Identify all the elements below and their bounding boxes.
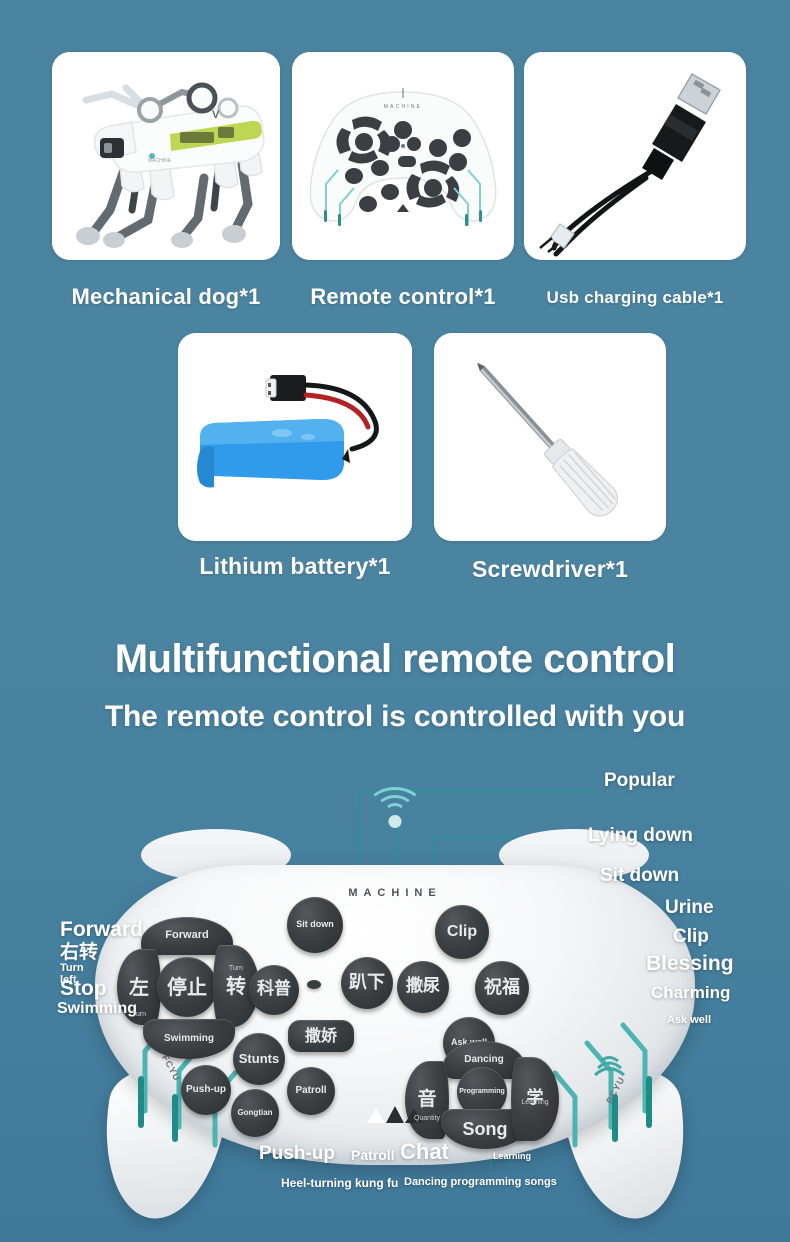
product-card-lithium-battery <box>178 333 412 541</box>
annotation-patroll: Patroll <box>351 1148 395 1162</box>
remote-control-diagram: MACHINE <box>95 845 695 1175</box>
annotation-dancing-programming-songs: Dancing programming songs <box>404 1177 557 1188</box>
annotation-blessing: Blessing <box>646 953 734 974</box>
antenna-icon <box>363 787 427 835</box>
product-card-mechanical-dog: V MACHINE <box>52 52 280 260</box>
annotation-charming: Charming <box>651 984 730 1001</box>
annotation-stop: Stop <box>60 978 107 999</box>
annotation-heel-turning-kung-fu: Heel-turning kung fu <box>281 1177 398 1189</box>
screwdriver-photo <box>434 333 666 541</box>
button-volume-sublabel: Quantity <box>405 1115 449 1122</box>
button-learning-sublabel: Learning <box>511 1099 559 1106</box>
annotation-forward: Forward <box>60 919 143 940</box>
card-label-screwdriver: Screwdriver*1 <box>434 556 666 583</box>
product-card-screwdriver <box>434 333 666 541</box>
button-blessing[interactable]: 祝福 <box>475 961 529 1015</box>
annotation-chat: Chat <box>400 1141 449 1163</box>
usb-cable-photo <box>524 52 746 260</box>
page-title: Multifunctional remote control <box>0 637 790 682</box>
annotation-popular: Popular <box>604 771 675 790</box>
annotation-turn: Turn <box>60 963 84 974</box>
button-patroll[interactable]: Patroll <box>287 1067 335 1115</box>
button-gongtian[interactable]: Gongtian <box>231 1089 279 1137</box>
card-label-remote-control: Remote control*1 <box>292 284 514 310</box>
button-turn-left-sublabel: Turn <box>117 1011 161 1018</box>
svg-text:MACHINE: MACHINE <box>384 104 422 110</box>
annotation-lying-down: Lying down <box>588 826 693 845</box>
button-stunts[interactable]: Stunts <box>233 1033 285 1085</box>
annotation-urine: Urine <box>665 898 714 917</box>
card-label-mechanical-dog: Mechanical dog*1 <box>52 284 280 310</box>
button-stop[interactable]: 停止 <box>157 957 217 1017</box>
button-charming[interactable]: 撒娇 <box>288 1020 354 1052</box>
lithium-battery-photo <box>178 333 412 541</box>
annotation-clip: Clip <box>673 927 709 946</box>
annotation-learning: Learning <box>493 1152 531 1161</box>
button-clip[interactable]: Clip <box>435 905 489 959</box>
controller-body: MACHINE <box>95 865 695 1165</box>
button-urine-sublabel: Urine <box>397 980 449 989</box>
product-infographic-page: V MACHINE MACHINE <box>0 0 790 1242</box>
button-push-up[interactable]: Push-up <box>181 1065 231 1115</box>
annotation-sit-down: Sit down <box>600 866 679 885</box>
annotation-push-up: Push-up <box>259 1144 335 1163</box>
svg-text:V: V <box>212 109 220 121</box>
button-center-small[interactable] <box>307 980 321 989</box>
button-lying-down[interactable]: 趴下 <box>341 957 393 1009</box>
button-popular[interactable]: 科普 <box>249 965 299 1015</box>
page-subtitle: The remote control is controlled with yo… <box>0 700 790 734</box>
card-label-usb-cable: Usb charging cable*1 <box>524 288 746 308</box>
annotation-turn-right-cn: 右转 <box>60 943 98 962</box>
card-label-lithium-battery: Lithium battery*1 <box>178 553 412 580</box>
game-controller-photo: MACHINE <box>292 52 514 260</box>
button-sit-down[interactable]: Sit down <box>287 897 343 953</box>
button-turn-right-sublabel: Turn <box>213 965 259 972</box>
robot-dog-photo: V MACHINE <box>52 52 280 260</box>
product-card-usb-cable <box>524 52 746 260</box>
product-card-remote-control: MACHINE <box>292 52 514 260</box>
annotation-ask-well: Ask well <box>667 1015 711 1026</box>
